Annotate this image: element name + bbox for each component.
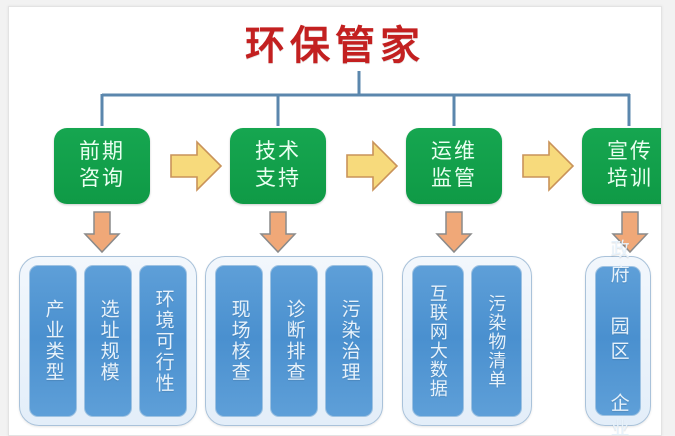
stage-box-3[interactable]: 运维 监管: [406, 128, 502, 204]
detail-panel-2: 现场核查 诊断排查 污染治理: [205, 256, 383, 426]
diagram-canvas: 环保管家 前期 咨询 技术 支持 运维 监管 宣传 培训: [0, 0, 675, 436]
right-arrow-icon: [169, 140, 223, 192]
detail-pill-label: 污染治理: [338, 299, 359, 383]
detail-panel-4: 政府 园区 企业: [585, 256, 651, 426]
stage-box-3-line1: 运维: [431, 139, 477, 166]
detail-pill-label: 诊断排查: [283, 299, 304, 383]
down-arrow-icon: [259, 210, 297, 254]
detail-pill-label: 环境可行性: [152, 289, 173, 394]
right-arrow-icon: [521, 140, 575, 192]
detail-pill-label: 产业类型: [42, 299, 63, 383]
stage-box-3-line2: 监管: [431, 166, 477, 193]
detail-pill-label: 污染物清单: [486, 294, 506, 389]
stage-box-1-line2: 咨询: [79, 166, 125, 193]
stage-box-4[interactable]: 宣传 培训: [582, 128, 662, 204]
stage-box-2-line1: 技术: [255, 139, 301, 166]
connector-bracket: [9, 71, 661, 131]
detail-pill[interactable]: 政府 园区 企业: [595, 266, 641, 416]
stage-box-1[interactable]: 前期 咨询: [54, 128, 150, 204]
detail-panel-1: 产业类型 选址规模 环境可行性: [19, 256, 197, 426]
detail-pill-label: 政府 园区 企业: [607, 239, 628, 436]
detail-pill[interactable]: 产业类型: [29, 265, 77, 417]
stage-box-2[interactable]: 技术 支持: [230, 128, 326, 204]
stage-box-1-line1: 前期: [79, 139, 125, 166]
page-title: 环保管家: [9, 25, 661, 67]
detail-pill-label: 选址规模: [97, 299, 118, 383]
detail-pill-label: 互联网大数据: [428, 284, 448, 398]
stage-box-2-line2: 支持: [255, 166, 301, 193]
detail-pill[interactable]: 互联网大数据: [412, 265, 464, 417]
detail-panel-3: 互联网大数据 污染物清单: [402, 256, 532, 426]
right-arrow-icon: [345, 140, 399, 192]
detail-pill[interactable]: 诊断排查: [270, 265, 318, 417]
detail-pill-label: 现场核查: [228, 299, 249, 383]
stage-box-4-line2: 培训: [607, 166, 653, 193]
detail-pill[interactable]: 污染物清单: [471, 265, 523, 417]
detail-pill[interactable]: 现场核查: [215, 265, 263, 417]
stage-box-4-line1: 宣传: [607, 139, 653, 166]
detail-pill[interactable]: 环境可行性: [139, 265, 187, 417]
diagram-card: 环保管家 前期 咨询 技术 支持 运维 监管 宣传 培训: [8, 6, 662, 436]
detail-pill[interactable]: 选址规模: [84, 265, 132, 417]
detail-pill[interactable]: 污染治理: [325, 265, 373, 417]
down-arrow-icon: [435, 210, 473, 254]
down-arrow-icon: [83, 210, 121, 254]
